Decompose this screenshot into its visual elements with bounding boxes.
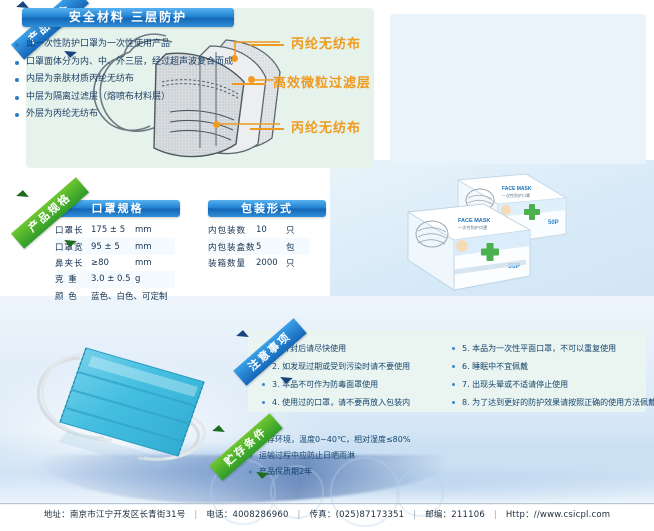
- cell-unit: 只: [286, 255, 310, 271]
- note-item: 4. 使用过的口罩，请不要再放入包装内: [262, 394, 457, 412]
- note-item: 2. 如发现过期或受到污染时请不要使用: [262, 358, 457, 376]
- cell-value: 2000: [256, 255, 286, 271]
- storage-item: 产品保质期2年: [248, 464, 410, 480]
- footer-site-value: //www.csicpl.com: [534, 510, 610, 520]
- safety-info-title: 安全材料 三层防护: [22, 8, 234, 27]
- info-item: 中层为隔离过滤层（熔喷布材料层）: [14, 89, 252, 107]
- ribbon-fold-spec-top: [16, 190, 29, 203]
- svg-text:一次性防护口罩: 一次性防护口罩: [458, 224, 487, 231]
- info-item: 内层为亲肤材质丙纶无纺布: [14, 71, 252, 89]
- table-row: 装箱数量 2000 只: [208, 255, 310, 271]
- footer-fax-label: 传真：: [309, 510, 335, 520]
- footer-zip-label: 邮编：: [425, 510, 451, 520]
- footer-contact-bar: 地址：南京市江宁开发区长青街31号 | 电话：4008286960 | 传真：(…: [0, 508, 654, 520]
- cell-unit: 只: [286, 222, 310, 238]
- blue-mask-photo: [8, 320, 233, 470]
- footer-address-value: 南京市江宁开发区长青街31号: [70, 510, 186, 520]
- product-spec-sheet: 丙纶无纺布 高效微粒过滤层 丙纶无纺布 产品简介 安全材料 三层防护 此一次性防…: [0, 0, 654, 531]
- cell-value: ≥80: [91, 255, 135, 271]
- footer-address-label: 地址：: [44, 510, 70, 520]
- table-row: 克 重 3.0 ± 0.5 g: [55, 271, 175, 287]
- cell-unit: mm: [135, 222, 175, 238]
- callout-label-filter-layer: 高效微粒过滤层: [232, 72, 371, 91]
- table-row: 内包装盒数 5 包: [208, 238, 310, 254]
- callout-text-1: 丙纶无纺布: [291, 37, 361, 52]
- svg-text:FACE MASK: FACE MASK: [458, 218, 490, 224]
- cell-value: 10: [256, 222, 286, 238]
- callout-label-inner-layer: 丙纶无纺布: [250, 117, 361, 136]
- note-item: 5. 本品为一次性平面口罩，不可以重复使用: [452, 340, 647, 358]
- cell-key: 克 重: [55, 271, 91, 287]
- callout-leader-1: [250, 44, 284, 46]
- cell-value: 3.0 ± 0.5: [91, 271, 135, 287]
- footer-site-label: Http：: [506, 510, 534, 520]
- storage-item: 运输过程中应防止日晒雨淋: [248, 448, 410, 464]
- note-item: 7. 出现头晕或不适请停止使用: [452, 376, 647, 394]
- product-box-photo: FACE MASK 一次性防护口罩 50P FACE MASK: [398, 172, 618, 307]
- safety-info-panel: [390, 14, 646, 164]
- mask-spec-table: 口罩规格 口罩长 175 ± 5 mm 口罩宽 95 ± 5 mm 鼻夹长: [55, 200, 180, 304]
- cell-unit: mm: [135, 255, 175, 271]
- note-item: 8. 为了达到更好的防护效果请按照正确的使用方法佩戴: [452, 394, 647, 412]
- footer-separator: |: [194, 510, 197, 520]
- callout-leader-3: [250, 128, 284, 130]
- footer-phone-value: 4008286960: [232, 510, 288, 520]
- info-item: 口罩面体分为内、中、外三层，经过超声波复合而成: [14, 54, 252, 72]
- cell-unit: mm: [135, 238, 175, 254]
- packaging-spec-grid: 内包装数 10 只 内包装盒数 5 包 装箱数量 2000 只: [208, 222, 310, 271]
- cell-value: 蓝色、白色、可定制: [91, 288, 175, 304]
- cell-key: 内包装盒数: [208, 238, 256, 254]
- footer-separator: |: [297, 510, 300, 520]
- packaging-spec-table: 包装形式 内包装数 10 只 内包装盒数 5 包 装箱数量 200: [208, 200, 326, 271]
- table-row: 颜 色 蓝色、白色、可定制: [55, 288, 175, 304]
- cell-unit: g: [135, 271, 175, 287]
- footer-zip-value: 211106: [451, 510, 485, 520]
- cell-value: 175 ± 5: [91, 222, 135, 238]
- cell-key: 鼻夹长: [55, 255, 91, 271]
- callout-text-2: 高效微粒过滤层: [273, 76, 371, 91]
- info-item: 此一次性防护口罩为一次性使用产品: [14, 36, 252, 54]
- footer-separator: |: [494, 510, 497, 520]
- footer-separator: |: [413, 510, 416, 520]
- callout-text-3: 丙纶无纺布: [291, 121, 361, 136]
- cell-key: 颜 色: [55, 288, 91, 304]
- cell-key: 内包装数: [208, 222, 256, 238]
- footer-divider: [0, 503, 654, 504]
- storage-list: 贮存环境，温度0~40℃，相对湿度≤80% 运输过程中应防止日晒雨淋 产品保质期…: [248, 432, 410, 480]
- svg-text:一次性防护口罩: 一次性防护口罩: [502, 192, 530, 198]
- footer-fax-value: (025)87173351: [336, 510, 405, 520]
- product-boxes-illustration: FACE MASK 一次性防护口罩 50P FACE MASK: [398, 172, 618, 307]
- callout-label-outer-layer: 丙纶无纺布: [250, 33, 361, 52]
- notes-list-right: 5. 本品为一次性平面口罩，不可以重复使用 6. 睡眠中不宜佩戴 7. 出现头晕…: [452, 340, 647, 412]
- cell-unit: 包: [286, 238, 310, 254]
- table-row: 鼻夹长 ≥80 mm: [55, 255, 175, 271]
- svg-text:50P: 50P: [548, 220, 559, 226]
- cell-value: 5: [256, 238, 286, 254]
- note-item: 6. 睡眠中不宜佩戴: [452, 358, 647, 376]
- footer-phone-label: 电话：: [206, 510, 232, 520]
- svg-text:FACE MASK: FACE MASK: [502, 186, 532, 192]
- cell-key: 装箱数量: [208, 255, 256, 271]
- table-row: 内包装数 10 只: [208, 222, 310, 238]
- info-item: 外层为丙纶无纺布: [14, 106, 252, 124]
- safety-info-list: 此一次性防护口罩为一次性使用产品 口罩面体分为内、中、外三层，经过超声波复合而成…: [14, 36, 252, 124]
- cell-value: 95 ± 5: [91, 238, 135, 254]
- packaging-spec-title: 包装形式: [208, 200, 326, 217]
- mask-spec-grid: 口罩长 175 ± 5 mm 口罩宽 95 ± 5 mm 鼻夹长 ≥80 mm: [55, 222, 175, 304]
